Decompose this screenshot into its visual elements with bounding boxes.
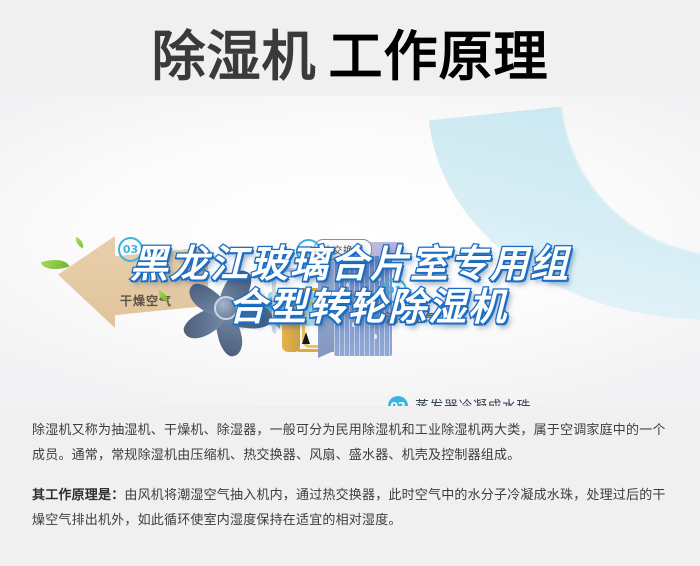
paragraph-2-lead: 其工作原理是：: [32, 488, 124, 503]
badge-01: 01: [382, 278, 407, 303]
humid-air-label: 潮湿空气: [386, 309, 438, 326]
paragraph-2: 其工作原理是：由风机将潮湿空气抽入机内，通过热交换器，此时空气中的水分子冷凝成水…: [32, 483, 672, 534]
callout-pointer-icon: [339, 256, 349, 267]
dehumidifier-diagram: 干燥空气: [0, 96, 700, 406]
step-item-02: 02 蒸发器冷凝成水珠: [388, 396, 531, 406]
page-title: 除湿机 工作原理: [0, 18, 700, 96]
title-secondary: 工作原理: [329, 30, 549, 84]
humid-airflow-band: [429, 96, 700, 349]
step-text-02: 蒸发器冷凝成水珠: [415, 396, 531, 406]
badge-03: 03: [118, 237, 143, 262]
title-primary: 除湿机: [152, 30, 317, 84]
infographic-page: 除湿机 工作原理 干燥空气: [0, 0, 700, 566]
description-block: 除湿机又称为抽湿机、干燥机、除湿器，一般可分为民用除湿机和工业除湿机两大类，属于…: [32, 418, 672, 533]
leaf-icon: [73, 237, 86, 249]
badge-02: 02: [296, 239, 321, 264]
step-badge-02: 02: [388, 396, 408, 406]
paragraph-1: 除湿机又称为抽湿机、干燥机、除湿器，一般可分为民用除湿机和工业除湿机两大类，属于…: [32, 418, 672, 469]
paragraph-2-rest: 由风机将潮湿空气抽入机内，通过热交换器，此时空气中的水分子冷凝成水珠，处理过后的…: [32, 488, 666, 528]
